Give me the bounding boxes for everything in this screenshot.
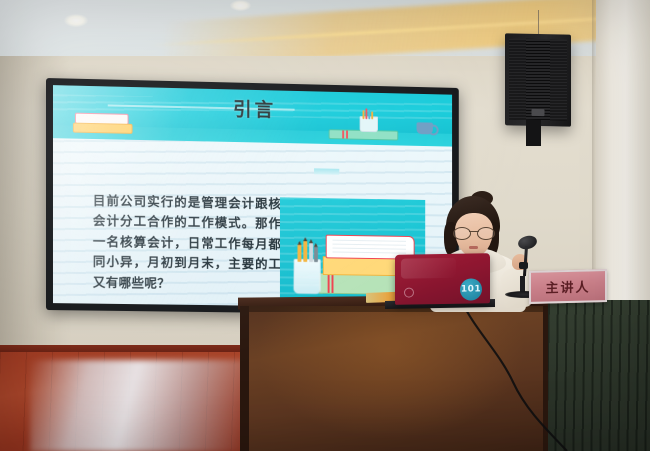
microphone-joint	[519, 262, 528, 269]
podium-front-panel	[240, 306, 550, 451]
book-stripe	[332, 274, 334, 293]
speaker-nameplate: 主讲人	[529, 269, 607, 304]
laptop-brand-logo	[404, 287, 414, 297]
ceiling-downlight-icon	[64, 14, 88, 27]
ceiling-downlight-icon	[230, 0, 251, 11]
speaker-suspension-wire	[538, 10, 539, 36]
slide-body-text: 目前公司实行的是管理会计跟核算会计分工合作的工作模式。那作为一名核算会计，日常工…	[93, 191, 295, 295]
glasses-lens-left	[453, 227, 471, 240]
slide-accent-tick	[314, 168, 339, 174]
pencil-icon	[371, 111, 373, 119]
book-stripe	[328, 274, 330, 293]
pen-icon	[314, 247, 318, 262]
coffee-mug-icon	[417, 122, 433, 134]
pencil-icon	[365, 108, 367, 119]
speaker-brand-logo	[532, 109, 545, 116]
pen-icon	[309, 243, 313, 262]
book-yellow-icon	[73, 123, 133, 134]
eyeglasses-icon	[453, 227, 495, 238]
mouth	[469, 246, 478, 249]
laptop-lid-highlight	[401, 258, 456, 279]
pencil-icon	[298, 245, 302, 262]
presentation-room-scene: 引言 目前公司实行的是管理会计跟核算会计分工合作的工作模式。那作为一名核算会计，…	[0, 0, 650, 451]
pencil-icon	[363, 110, 365, 119]
illustration-pencil-cup-icon	[293, 259, 321, 294]
glasses-lens-right	[477, 227, 495, 240]
pencil-icon	[303, 241, 307, 262]
laptop-sticker: 101	[460, 278, 482, 300]
side-wood-panel	[548, 300, 650, 451]
presentation-slide[interactable]: 引言 目前公司实行的是管理会计跟核算会计分工合作的工作模式。那作为一名核算会计，…	[53, 85, 452, 308]
pencil-cup-icon	[360, 116, 378, 132]
laptop[interactable]: 101	[395, 253, 490, 305]
pencil-icon	[368, 109, 370, 119]
speaker-mount-bracket	[526, 120, 541, 146]
left-books-decoration-icon	[73, 113, 131, 136]
right-desk-items-decoration-icon	[329, 98, 435, 146]
nameplate-text: 主讲人	[531, 276, 605, 297]
pa-loudspeaker	[505, 33, 571, 126]
